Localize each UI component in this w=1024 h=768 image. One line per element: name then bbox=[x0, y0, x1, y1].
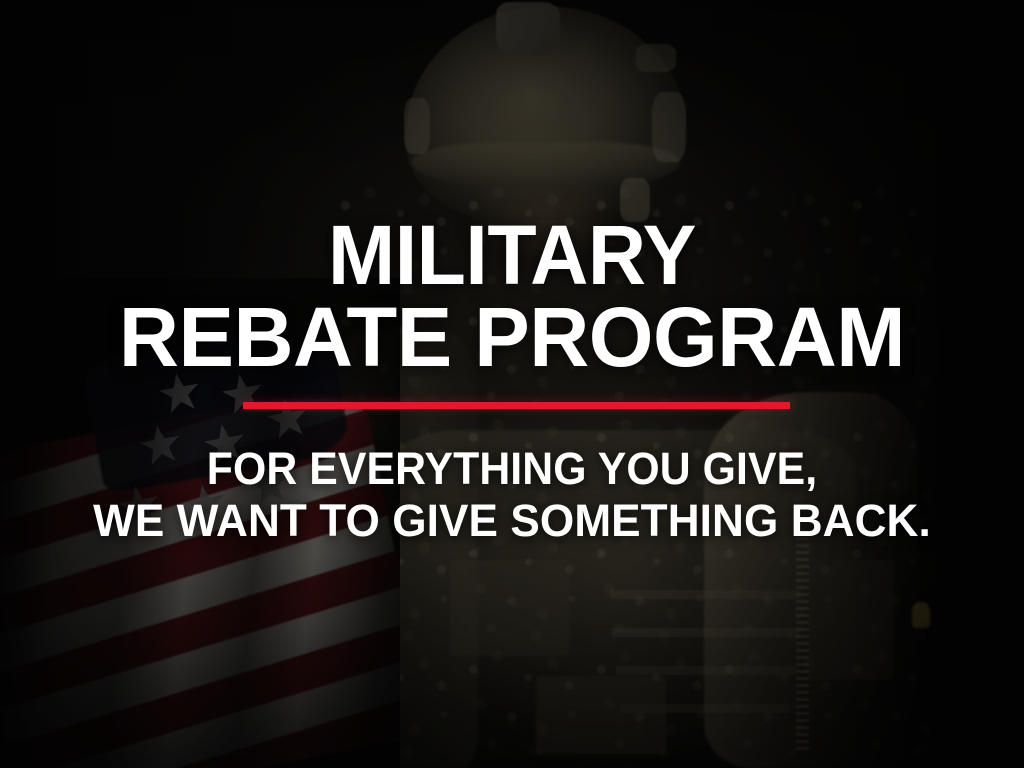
subhead-line-1: FOR EVERYTHING YOU GIVE, bbox=[26, 446, 999, 491]
headline-line-2: REBATE PROGRAM bbox=[5, 299, 1019, 376]
accent-divider-rule bbox=[243, 402, 790, 409]
subhead-line-2: WE WANT TO GIVE SOMETHING BACK. bbox=[10, 498, 1014, 543]
military-rebate-poster: MILITARY REBATE PROGRAM FOR EVERYTHING Y… bbox=[0, 0, 1024, 768]
headline-line-1: MILITARY bbox=[20, 217, 1003, 294]
poster-content: MILITARY REBATE PROGRAM FOR EVERYTHING Y… bbox=[0, 0, 1024, 768]
